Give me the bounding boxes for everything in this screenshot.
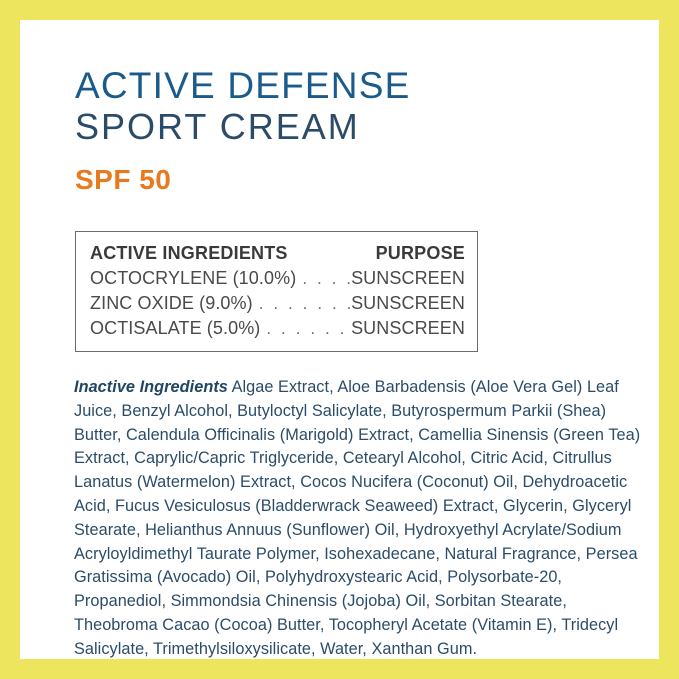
table-row: OCTOCRYLENE (10.0%) . . . . . . . . . . … [90, 266, 465, 291]
active-ingredient-purpose: SUNSCREEN [351, 316, 465, 341]
column-header-purpose: PURPOSE [376, 241, 465, 266]
active-ingredient-purpose: SUNSCREEN [351, 291, 465, 316]
product-label-card: ACTIVE DEFENSE SPORT CREAM SPF 50 ACTIVE… [20, 20, 659, 659]
active-ingredient-name: OCTOCRYLENE (10.0%) [90, 266, 296, 291]
active-ingredients-header-row: ACTIVE INGREDIENTS PURPOSE [90, 241, 465, 266]
inactive-ingredients-text: Algae Extract, Aloe Barbadensis (Aloe Ve… [74, 378, 640, 658]
inactive-ingredients-paragraph: Inactive Ingredients Algae Extract, Aloe… [74, 376, 650, 662]
product-title: ACTIVE DEFENSE [75, 65, 635, 107]
active-ingredient-name: ZINC OXIDE (9.0%) [90, 291, 253, 316]
table-row: OCTISALATE (5.0%) . . . . . . . . . . . … [90, 316, 465, 341]
active-ingredients-box: ACTIVE INGREDIENTS PURPOSE OCTOCRYLENE (… [75, 231, 478, 352]
table-row: ZINC OXIDE (9.0%) . . . . . . . . . . . … [90, 291, 465, 316]
spf-rating: SPF 50 [75, 163, 635, 197]
column-header-active-ingredients: ACTIVE INGREDIENTS [90, 241, 288, 266]
product-subtitle: SPORT CREAM [75, 105, 635, 149]
heading-block: ACTIVE DEFENSE SPORT CREAM SPF 50 [75, 65, 635, 197]
dot-leader: . . . . . . . . . . . . . [259, 291, 350, 316]
dot-leader: . . . . . . . . . . [302, 266, 350, 291]
dot-leader: . . . . . . . . . . . . . [266, 316, 350, 341]
active-ingredient-name: OCTISALATE (5.0%) [90, 316, 260, 341]
active-ingredient-purpose: SUNSCREEN [351, 266, 465, 291]
inactive-ingredients-label: Inactive Ingredients [74, 378, 228, 396]
